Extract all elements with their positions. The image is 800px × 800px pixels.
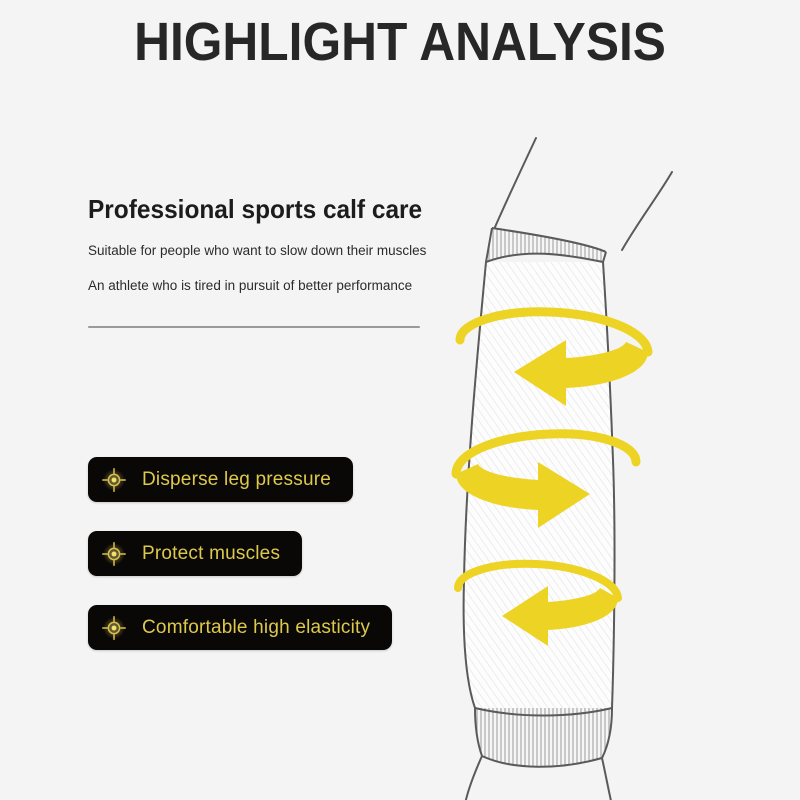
feature-badge-label: Comfortable high elasticity [142, 617, 370, 639]
feature-badge-comfortable-high-elasticity[interactable]: Comfortable high elasticity [88, 605, 392, 650]
crosshair-target-icon [102, 468, 126, 492]
crosshair-target-icon [102, 616, 126, 640]
highlight-analysis-page: HIGHLIGHT ANALYSIS Professional sports c… [0, 0, 800, 800]
crosshair-target-icon [102, 542, 126, 566]
subheading: Professional sports calf care [88, 194, 438, 225]
page-title: HIGHLIGHT ANALYSIS [32, 14, 768, 71]
calf-compression-sleeve-illustration [400, 110, 800, 800]
section-divider [88, 326, 420, 328]
feature-badge-list: Disperse leg pressure Protect muscles [88, 457, 392, 679]
feature-badge-label: Protect muscles [142, 543, 280, 565]
feature-badge-disperse-leg-pressure[interactable]: Disperse leg pressure [88, 457, 353, 502]
feature-badge-label: Disperse leg pressure [142, 469, 331, 491]
feature-badge-protect-muscles[interactable]: Protect muscles [88, 531, 302, 576]
